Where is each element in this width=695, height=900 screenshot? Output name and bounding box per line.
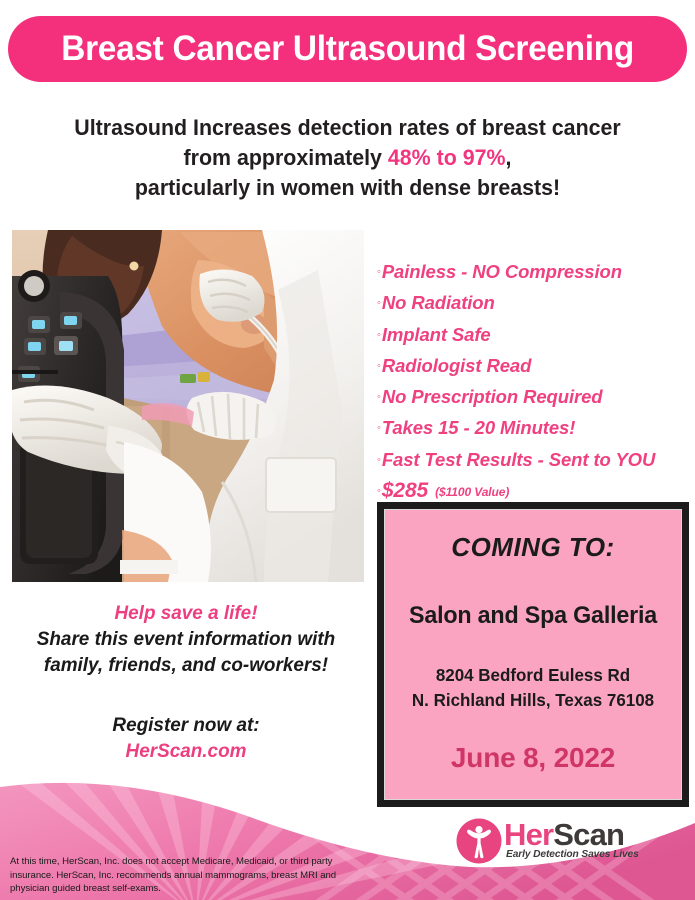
ultrasound-exam-photo: [12, 230, 364, 582]
bullet-icon: ◦: [377, 322, 381, 349]
subheadline: Ultrasound Increases detection rates of …: [31, 113, 665, 203]
register-label: Register now at:: [15, 712, 356, 738]
benefit-label: Fast Test Results - Sent to YOU: [382, 446, 655, 473]
logo-text-block: HerScan Early Detection Saves Lives: [504, 819, 639, 860]
bullet-icon: ◦: [377, 384, 381, 411]
benefit-item: ◦ Painless - NO Compression: [377, 258, 695, 289]
logo-word-her: Her: [504, 817, 553, 852]
page-title: Breast Cancer Ultrasound Screening: [61, 31, 634, 67]
coming-to-heading: COMING TO:: [385, 533, 681, 562]
subheadline-line-2: from approximately 48% to 97%,: [31, 143, 665, 173]
disclaimer-text: At this time, HerScan, Inc. does not acc…: [10, 855, 350, 896]
share-headline: Help save a life!: [15, 600, 356, 626]
price-label: $285: [382, 477, 428, 504]
header-banner: Breast Cancer Ultrasound Screening: [8, 16, 687, 82]
benefit-item: ◦ No Prescription Required: [377, 383, 695, 414]
share-message: Help save a life! Share this event infor…: [15, 600, 356, 678]
share-line-1: Share this event information with: [15, 626, 356, 652]
flyer-page: Breast Cancer Ultrasound Screening Ultra…: [0, 0, 695, 900]
benefit-label: Painless - NO Compression: [382, 258, 622, 285]
benefit-item: ◦ Fast Test Results - Sent to YOU: [377, 446, 695, 477]
bullet-icon: ◦: [377, 447, 381, 474]
subheadline-line-3: particularly in women with dense breasts…: [31, 173, 665, 203]
benefit-item: ◦ Takes 15 - 20 Minutes!: [377, 414, 695, 445]
logo-tagline: Early Detection Saves Lives: [506, 849, 639, 860]
benefit-label: Implant Safe: [382, 321, 491, 348]
venue-address: 8204 Bedford Euless Rd N. Richland Hills…: [389, 663, 676, 713]
register-url-link[interactable]: HerScan.com: [15, 738, 356, 764]
benefit-label: Radiologist Read: [382, 352, 532, 379]
register-cta: Register now at: HerScan.com: [15, 712, 356, 764]
benefits-list: ◦ Painless - NO Compression ◦ No Radiati…: [377, 258, 695, 508]
bullet-icon: ◦: [377, 259, 381, 286]
subheadline-line-1: Ultrasound Increases detection rates of …: [31, 113, 665, 143]
address-line-1: 8204 Bedford Euless Rd: [389, 663, 676, 688]
ultrasound-exam-illustration: [12, 230, 364, 582]
benefit-label: Takes 15 - 20 Minutes!: [382, 414, 576, 441]
benefit-label: No Radiation: [382, 289, 495, 316]
address-line-2: N. Richland Hills, Texas 76108: [389, 688, 676, 713]
benefit-item: ◦ Radiologist Read: [377, 352, 695, 383]
subheadline-line-2-prefix: from approximately: [184, 145, 388, 170]
logo-word-scan: Scan: [553, 817, 624, 852]
herscan-woman-figure-icon: [456, 818, 502, 864]
subheadline-line-2-suffix: ,: [505, 145, 511, 170]
bullet-icon: ◦: [377, 353, 381, 380]
detection-rate-highlight: 48% to 97%: [388, 145, 506, 170]
bullet-icon: ◦: [377, 290, 381, 317]
benefit-label: No Prescription Required: [382, 383, 603, 410]
event-date: June 8, 2022: [385, 743, 681, 774]
logo-wordmark: HerScan: [504, 819, 639, 850]
benefit-item: ◦ Implant Safe: [377, 321, 695, 352]
share-line-2: family, friends, and co-workers!: [15, 652, 356, 678]
benefit-item: ◦ No Radiation: [377, 289, 695, 320]
bullet-icon: ◦: [377, 415, 381, 442]
herscan-logo: HerScan Early Detection Saves Lives: [456, 818, 639, 864]
event-details-inner: COMING TO: Salon and Spa Galleria 8204 B…: [384, 509, 682, 800]
event-details-box: COMING TO: Salon and Spa Galleria 8204 B…: [377, 502, 689, 807]
venue-name: Salon and Spa Galleria: [389, 603, 676, 629]
